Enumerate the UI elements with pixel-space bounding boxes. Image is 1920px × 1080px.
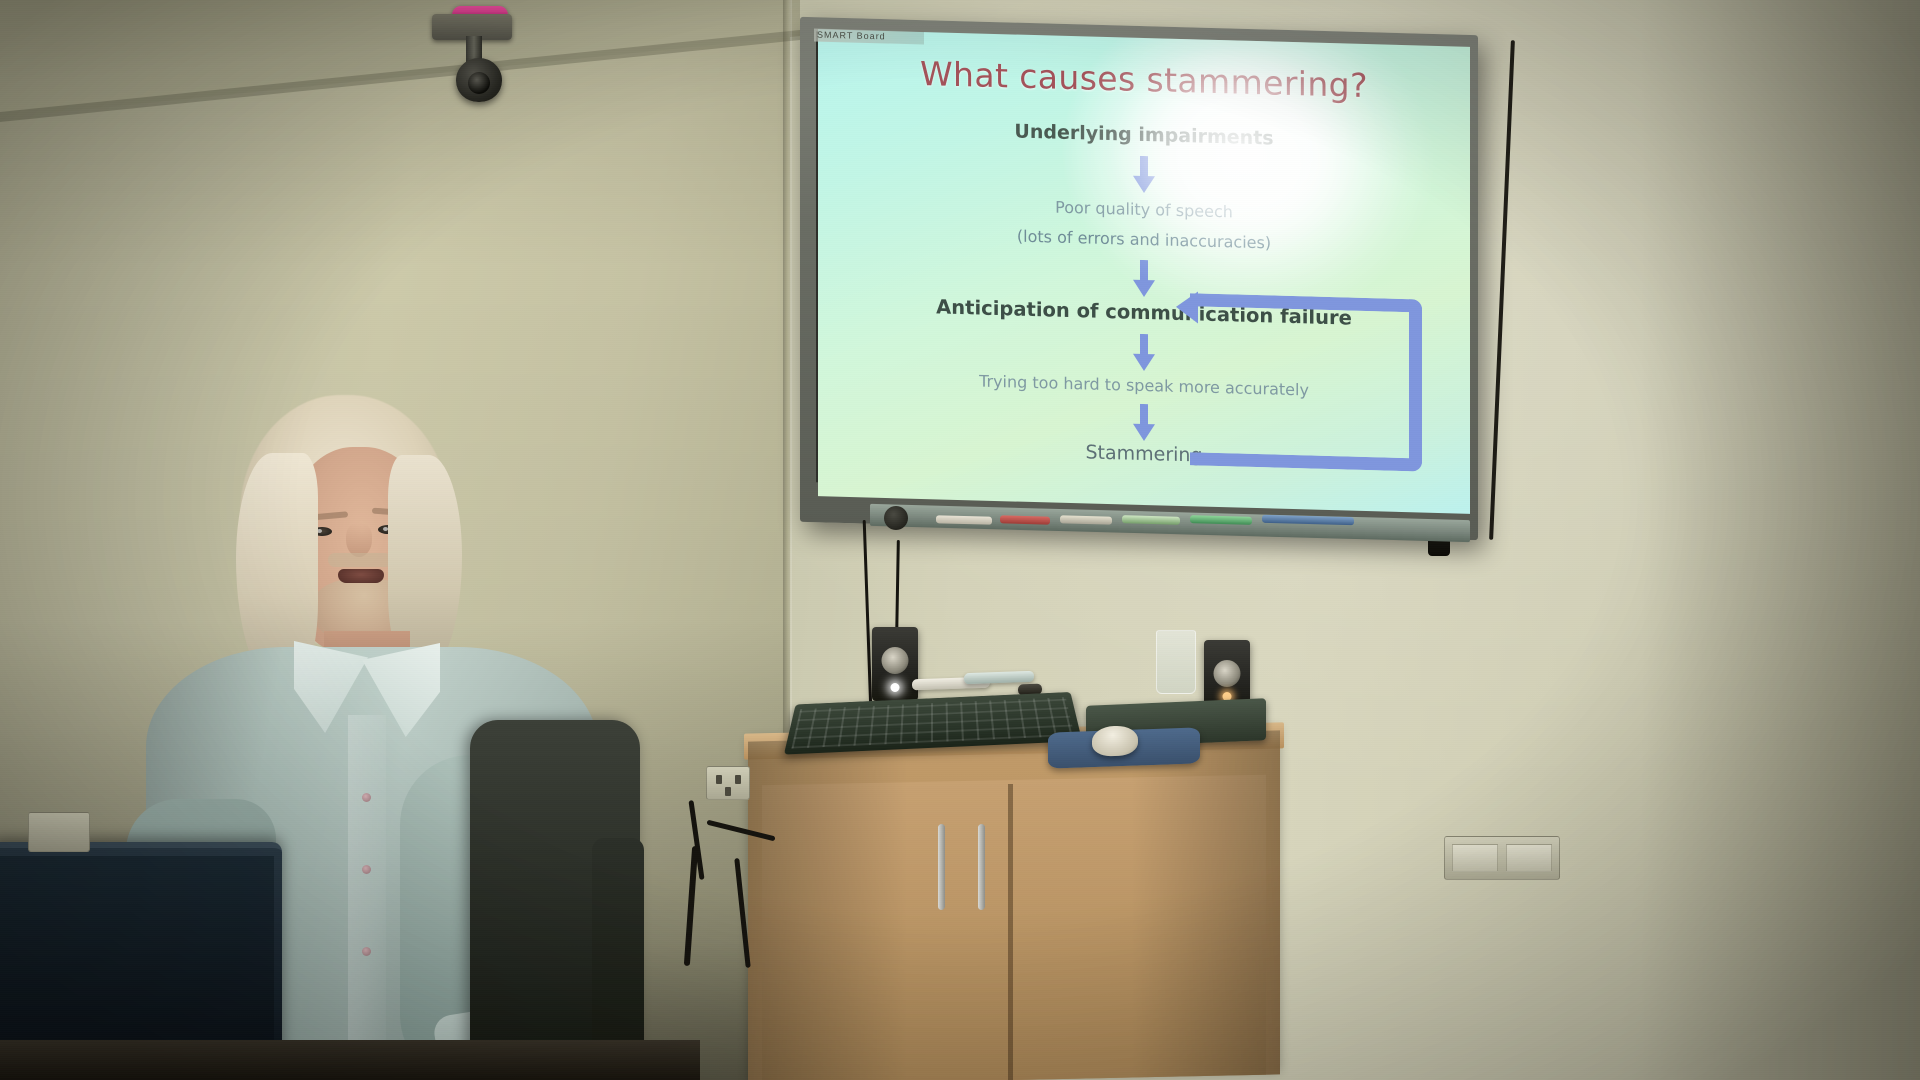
wall-socket-right-outlet-1 bbox=[1452, 844, 1498, 872]
shirt-button-1 bbox=[362, 793, 371, 802]
mouth bbox=[338, 569, 384, 583]
socket-pin bbox=[716, 775, 722, 784]
room-scene: What causes stammering? Underlying impai… bbox=[0, 0, 1920, 1080]
moustache bbox=[328, 553, 392, 567]
speaker-cone-icon bbox=[882, 647, 909, 674]
arrow-down-icon-3 bbox=[1131, 334, 1157, 373]
tray-cable-clip bbox=[884, 506, 908, 530]
arrow-down-icon-4 bbox=[1131, 404, 1157, 443]
tray-pen-white[interactable] bbox=[936, 515, 992, 525]
nose bbox=[346, 523, 372, 557]
wall-shadow-right bbox=[1640, 0, 1920, 1080]
shirt-placket bbox=[348, 715, 386, 1080]
wall-socket-right-outlet-2 bbox=[1506, 844, 1552, 872]
wall-socket-left bbox=[706, 766, 750, 800]
socket-pin bbox=[735, 775, 741, 784]
foreground-desk-edge bbox=[0, 1040, 700, 1080]
shirt-button-3 bbox=[362, 947, 371, 956]
feedback-loop-arrowhead-icon bbox=[1176, 291, 1198, 324]
arrow-down-icon-2 bbox=[1131, 260, 1157, 299]
flow-step-2b: (lots of errors and inaccuracies) bbox=[818, 221, 1470, 258]
left-speaker bbox=[872, 627, 918, 701]
slide-title: What causes stammering? bbox=[818, 51, 1470, 108]
tray-pen-black[interactable] bbox=[1060, 515, 1112, 524]
slide: What causes stammering? Underlying impai… bbox=[818, 29, 1470, 514]
arrow-down-icon-1 bbox=[1131, 156, 1157, 195]
feedback-loop-arrow bbox=[1190, 293, 1422, 471]
wall-socket-bottom-left bbox=[28, 812, 90, 852]
mouse[interactable] bbox=[1092, 725, 1138, 757]
speaker-power-led bbox=[891, 683, 900, 692]
drinking-glass bbox=[1156, 630, 1196, 694]
flow-step-1: Underlying impairments bbox=[818, 115, 1470, 155]
tray-pen-green[interactable] bbox=[1122, 515, 1180, 525]
keyboard-keys bbox=[791, 697, 1074, 748]
speaker-cone-icon bbox=[1214, 660, 1241, 687]
cabinet-shading bbox=[748, 730, 1280, 1080]
tray-pen-red[interactable] bbox=[1000, 515, 1050, 524]
tray-pen-green-2[interactable] bbox=[1190, 515, 1252, 525]
shirt-button-2 bbox=[362, 865, 371, 874]
projection-screen[interactable]: What causes stammering? Underlying impai… bbox=[818, 29, 1470, 514]
flow-step-2: Poor quality of speech bbox=[818, 191, 1470, 228]
camera-icon bbox=[456, 58, 502, 102]
socket-pin bbox=[725, 787, 731, 796]
camera-lens-icon bbox=[468, 72, 490, 94]
